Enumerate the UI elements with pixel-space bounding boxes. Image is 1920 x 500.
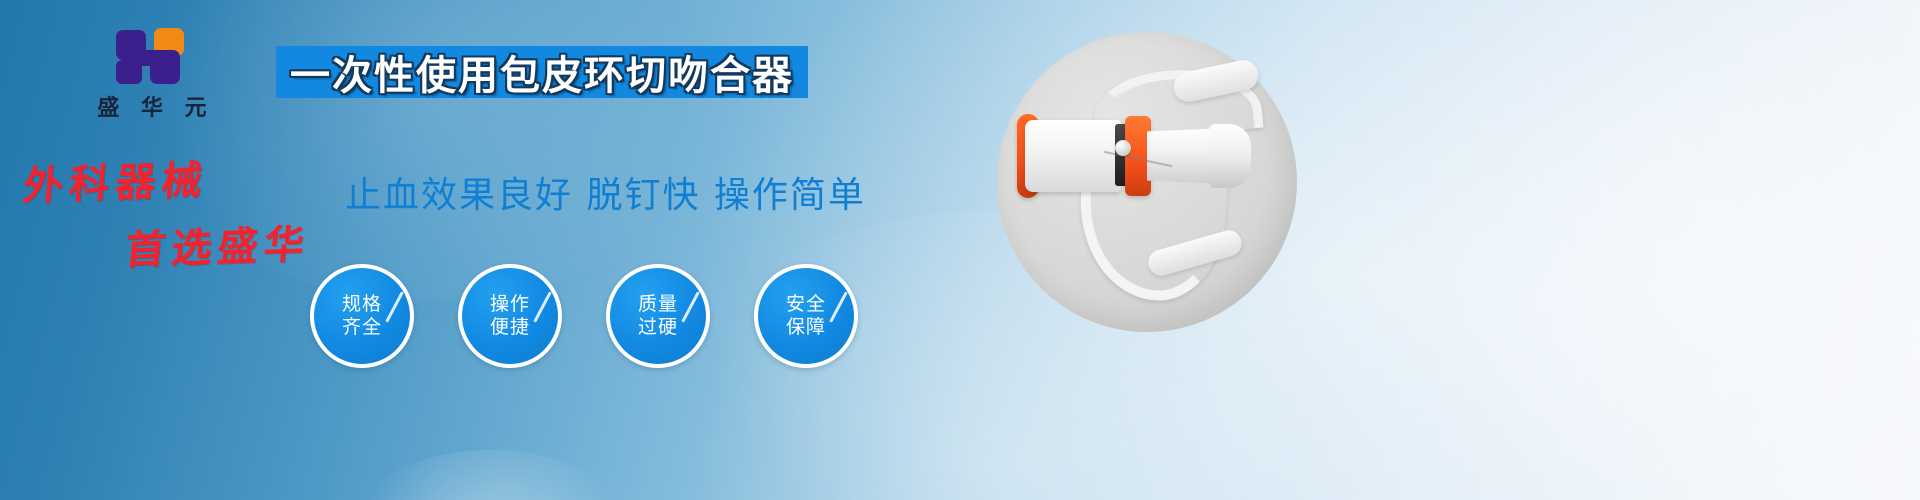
brand-name: 盛 华 元: [62, 90, 242, 122]
slogan-line-1: 外科器械: [21, 142, 361, 212]
logo-block-purple-bottom-right: [150, 50, 180, 84]
feature-circle-1-line-2: 齐全: [342, 316, 382, 339]
stapler-pivot: [1115, 140, 1131, 156]
blocky-h-logo-icon: [116, 28, 188, 84]
background-glow-3: [1380, 0, 1920, 500]
feature-circle-4[interactable]: 安全 保障: [754, 264, 858, 368]
background-arc-decoration: [330, 450, 650, 500]
feature-circle-2-line-1: 操作: [490, 293, 530, 316]
logo-block-purple-bottom-left: [116, 60, 142, 84]
brand-logo[interactable]: 盛 华 元: [62, 28, 242, 124]
feature-circle-list: 规格 齐全 操作 便捷 质量 过硬 安全 保障: [310, 264, 858, 368]
page-title: 一次性使用包皮环切吻合器: [290, 43, 794, 101]
feature-circle-3[interactable]: 质量 过硬: [606, 264, 710, 368]
feature-circle-2-line-2: 便捷: [490, 316, 530, 339]
feature-circle-3-line-2: 过硬: [638, 316, 678, 339]
promo-banner: 盛 华 元 外科器械 首选盛华 一次性使用包皮环切吻合器 止血效果良好 脱钉快 …: [0, 0, 1920, 500]
stapler-barrel: [1025, 120, 1121, 192]
calligraphy-slogan: 外科器械 首选盛华: [18, 148, 358, 258]
slash-accent-icon: [533, 291, 552, 322]
slash-accent-icon: [681, 291, 700, 322]
slash-accent-icon: [385, 291, 404, 322]
product-photo: [997, 32, 1297, 332]
feature-circle-1-line-1: 规格: [342, 293, 382, 316]
subtitle: 止血效果良好 脱钉快 操作简单: [345, 166, 866, 218]
feature-circle-4-line-2: 保障: [786, 316, 826, 339]
slash-accent-icon: [829, 291, 848, 322]
main-title-block: 一次性使用包皮环切吻合器: [276, 46, 808, 98]
stapler-tip: [1209, 124, 1251, 188]
feature-circle-4-line-1: 安全: [786, 293, 826, 316]
feature-circle-1[interactable]: 规格 齐全: [310, 264, 414, 368]
feature-circle-3-line-1: 质量: [638, 293, 678, 316]
feature-circle-2[interactable]: 操作 便捷: [458, 264, 562, 368]
